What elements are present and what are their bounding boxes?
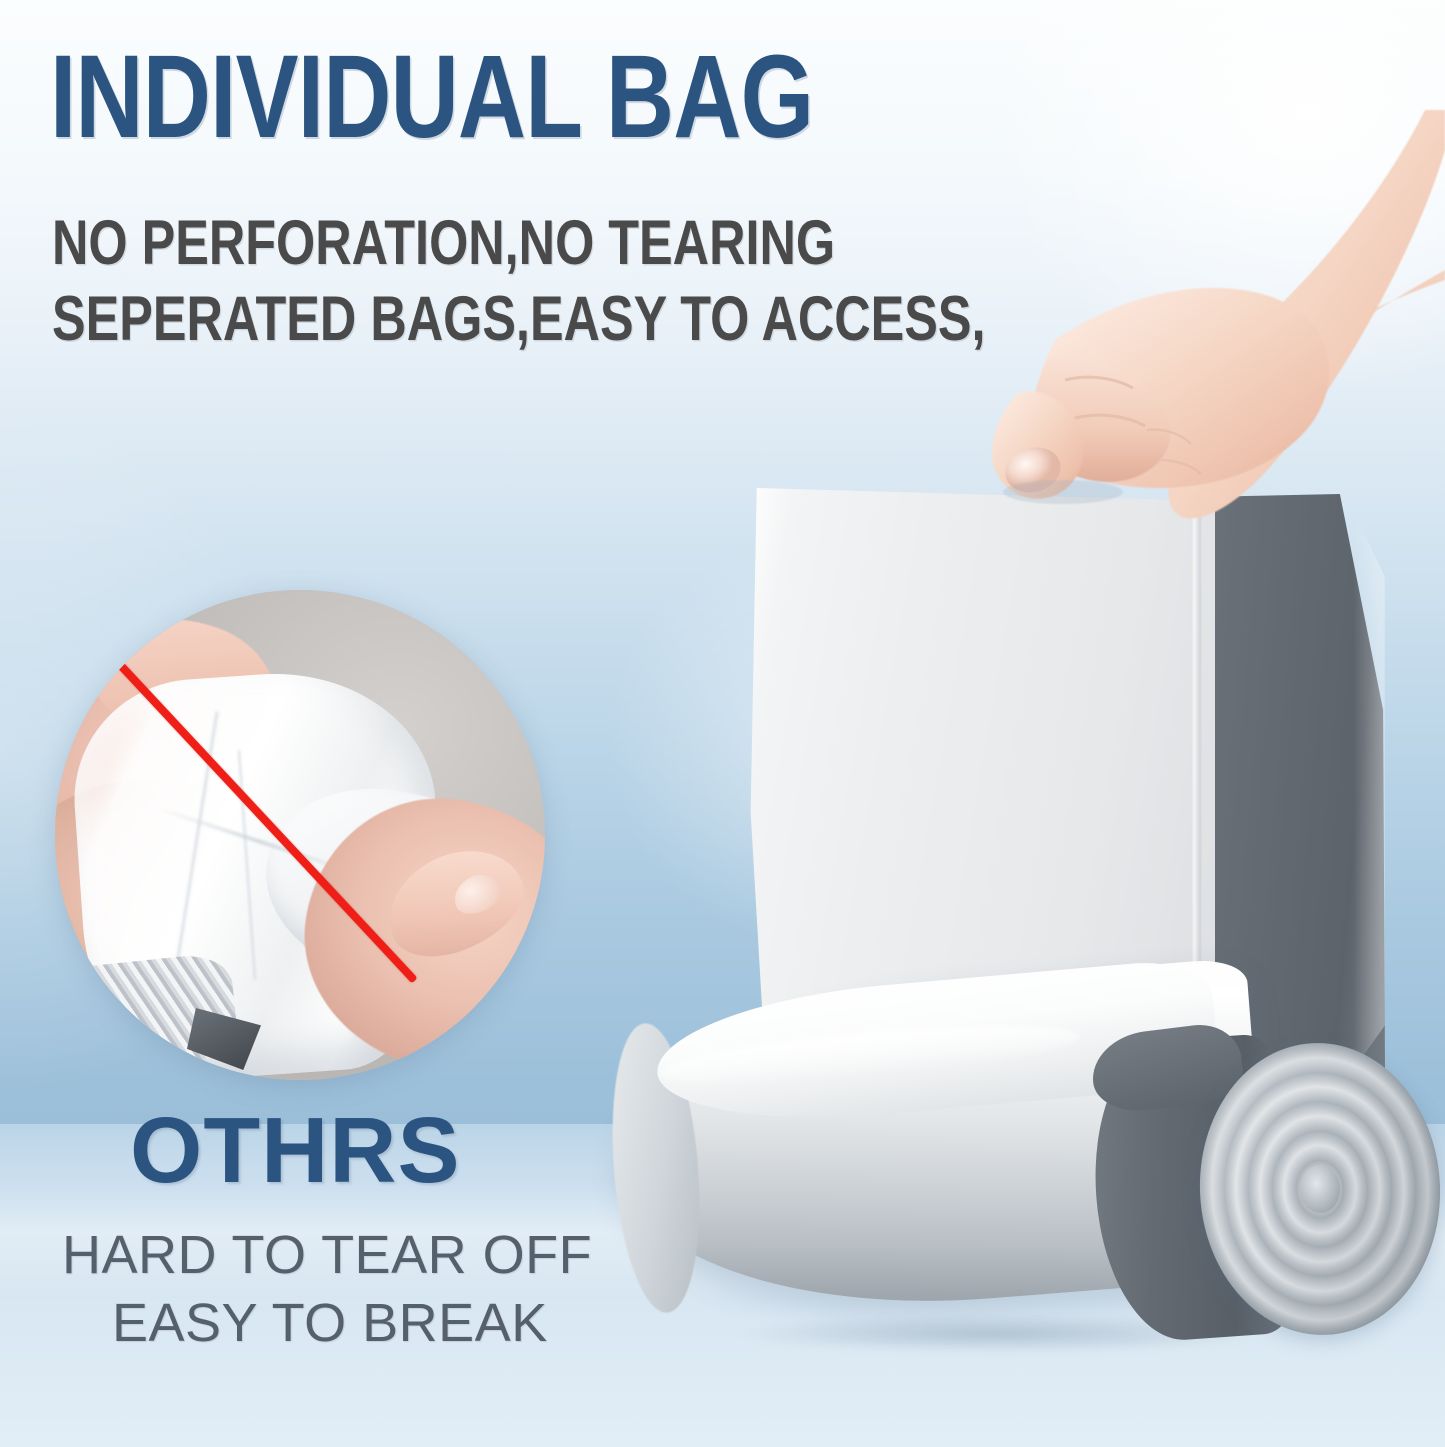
comparison-line-1: HARD TO TEAR OFF — [62, 1228, 592, 1282]
comparison-inset-photo — [55, 590, 545, 1080]
bag-roll — [620, 985, 1410, 1350]
page-title: INDIVIDUAL BAG — [50, 38, 813, 156]
comparison-line-2: EASY TO BREAK — [112, 1296, 548, 1350]
subtitle-line-2: SEPERATED BAGS,EASY TO ACCESS, — [52, 288, 986, 351]
hand-pulling-bag — [925, 130, 1445, 550]
comparison-title: OTHRS — [130, 1104, 461, 1197]
product-marketing-image: INDIVIDUAL BAG NO PERFORATION,NO TEARING… — [0, 0, 1445, 1447]
subtitle-line-1: NO PERFORATION,NO TEARING — [52, 212, 835, 275]
